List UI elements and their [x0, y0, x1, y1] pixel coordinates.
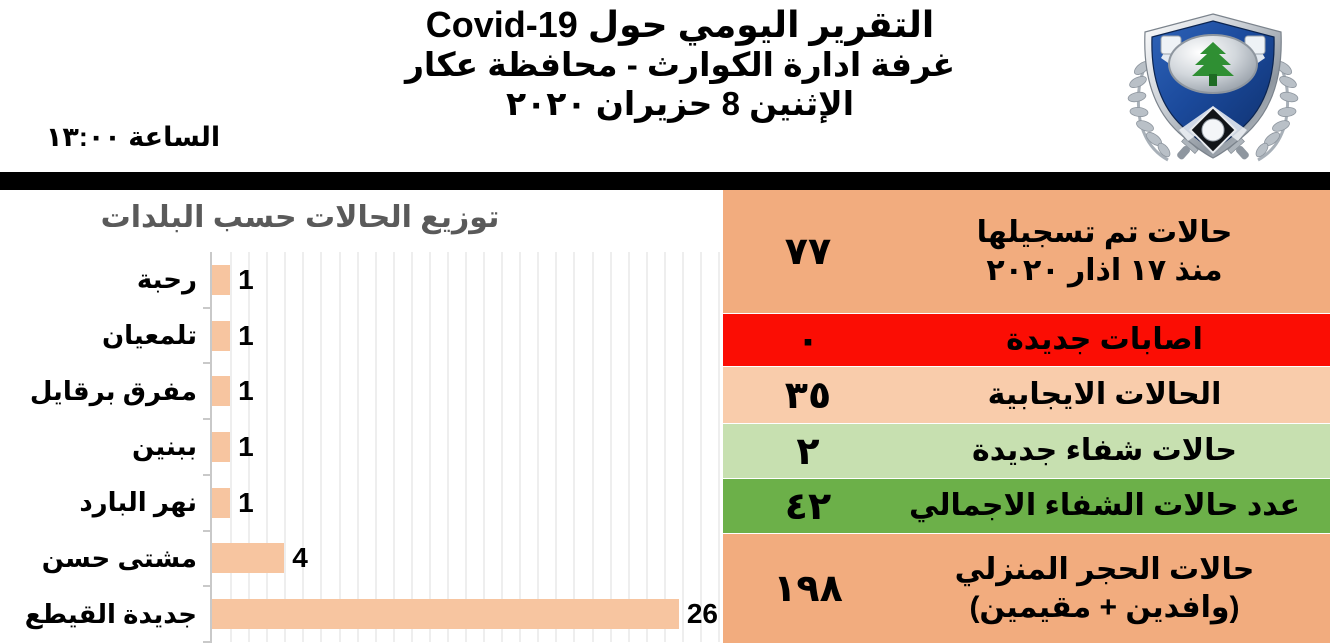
axis-tick [203, 474, 212, 476]
chart-category-axis: رحبةتلمعيانمفرق برقايلببنيننهر الباردمشت… [0, 252, 205, 642]
stat-row: ٣٥الحالات الايجابية [723, 367, 1330, 424]
page-title-line-1: التقرير اليومي حول Covid-19 [330, 4, 1030, 46]
chart-plot-area: 11111426 [210, 252, 718, 642]
chart-bar-row: 1 [212, 363, 718, 419]
chart-bar [212, 376, 230, 406]
axis-tick [203, 585, 212, 587]
stat-label-main: عدد حالات الشفاء الاجمالي [909, 489, 1300, 522]
chart-bar [212, 265, 230, 295]
chart-bar [212, 321, 230, 351]
chart-category-label-row: جديدة القيطع [0, 586, 205, 642]
stat-value: ١٩٨ [723, 566, 893, 611]
chart-category-label: تلمعيان [102, 320, 197, 351]
stat-value: ٣٥ [723, 373, 893, 418]
chart-category-label-row: تلمعيان [0, 308, 205, 364]
chart-bar-value-label: 4 [292, 542, 308, 574]
chart-bar-value-label: 1 [238, 375, 254, 407]
stat-label: الحالات الايجابية [893, 376, 1330, 414]
chart-bar-value-label: 1 [238, 487, 254, 519]
chart-bar-row: 1 [212, 475, 718, 531]
chart-category-label: مفرق برقايل [30, 376, 197, 407]
stat-value: ٢ [723, 429, 893, 474]
stat-label: حالات تم تسجيلهامنذ ١٧ اذار ٢٠٢٠ [893, 214, 1330, 289]
report-header: التقرير اليومي حول Covid-19 غرفة ادارة ا… [0, 0, 1330, 172]
chart-bar-value-label: 1 [238, 431, 254, 463]
chart-body: رحبةتلمعيانمفرق برقايلببنيننهر الباردمشت… [0, 252, 716, 642]
stat-label-sub: منذ ١٧ اذار ٢٠٢٠ [893, 252, 1316, 290]
stat-row: ٠اصابات جديدة [723, 314, 1330, 367]
page-title-line-3: الإثنين 8 حزيران ٢٠٢٠ [330, 85, 1030, 124]
chart-category-label: رحبة [137, 264, 197, 295]
chart-bar-row: 4 [212, 531, 718, 587]
chart-category-label: مشتى حسن [42, 543, 197, 574]
chart-category-label-row: مشتى حسن [0, 531, 205, 587]
cases-by-town-chart: توزيع الحالات حسب البلدات رحبةتلمعيانمفر… [0, 190, 716, 644]
stat-label: حالات شفاء جديدة [893, 432, 1330, 470]
stat-row: ١٩٨حالات الحجر المنزلي(وافدين + مقيمين) [723, 534, 1330, 644]
chart-category-label-row: رحبة [0, 252, 205, 308]
chart-bar [212, 488, 230, 518]
chart-category-label-row: ببنين [0, 419, 205, 475]
stat-row: ٤٢عدد حالات الشفاء الاجمالي [723, 479, 1330, 534]
axis-tick [203, 641, 212, 643]
chart-title: توزيع الحالات حسب البلدات [0, 200, 600, 235]
stat-value: ٧٧ [723, 229, 893, 274]
stat-value: ٠ [723, 318, 893, 363]
chart-category-label-row: مفرق برقايل [0, 363, 205, 419]
chart-bar [212, 543, 284, 573]
stat-label-main: حالات تم تسجيلها [977, 216, 1233, 249]
stat-row: ٢حالات شفاء جديدة [723, 424, 1330, 479]
stat-label-main: اصابات جديدة [1006, 323, 1203, 356]
stat-label-main: الحالات الايجابية [988, 378, 1222, 411]
header-title-block: التقرير اليومي حول Covid-19 غرفة ادارة ا… [330, 4, 1030, 124]
chart-bar-value-label: 1 [238, 320, 254, 352]
stat-label: عدد حالات الشفاء الاجمالي [893, 487, 1330, 525]
stat-value: ٤٢ [723, 484, 893, 529]
chart-bar [212, 432, 230, 462]
chart-bar-row: 1 [212, 419, 718, 475]
summary-stats-table: ٧٧حالات تم تسجيلهامنذ ١٧ اذار ٢٠٢٠٠اصابا… [723, 190, 1330, 644]
header-divider [0, 172, 1330, 190]
chart-bar-value-label: 26 [687, 598, 718, 630]
gridline [718, 252, 720, 642]
chart-category-label-row: نهر البارد [0, 475, 205, 531]
axis-tick [203, 362, 212, 364]
lebanon-civil-defense-shield-logo [1118, 2, 1308, 170]
axis-tick [203, 418, 212, 420]
axis-tick [203, 530, 212, 532]
chart-bar-row: 26 [212, 586, 718, 642]
stat-label: حالات الحجر المنزلي(وافدين + مقيمين) [893, 551, 1330, 626]
chart-bar-value-label: 1 [238, 264, 254, 296]
chart-category-label: جديدة القيطع [25, 599, 197, 630]
stat-row: ٧٧حالات تم تسجيلهامنذ ١٧ اذار ٢٠٢٠ [723, 190, 1330, 314]
chart-bar [212, 599, 679, 629]
stat-label-sub: (وافدين + مقيمين) [893, 589, 1316, 627]
chart-category-label: ببنين [132, 431, 197, 462]
page-title-line-2: غرفة ادارة الكوارث - محافظة عكار [330, 46, 1030, 85]
stat-label: اصابات جديدة [893, 321, 1330, 359]
stat-label-main: حالات شفاء جديدة [972, 434, 1237, 467]
chart-bar-row: 1 [212, 308, 718, 364]
report-time-label: الساعة ١٣:٠٠ [18, 122, 248, 153]
chart-bar-row: 1 [212, 252, 718, 308]
chart-category-label: نهر البارد [79, 487, 197, 518]
stat-label-main: حالات الحجر المنزلي [955, 553, 1255, 586]
axis-tick [203, 307, 212, 309]
